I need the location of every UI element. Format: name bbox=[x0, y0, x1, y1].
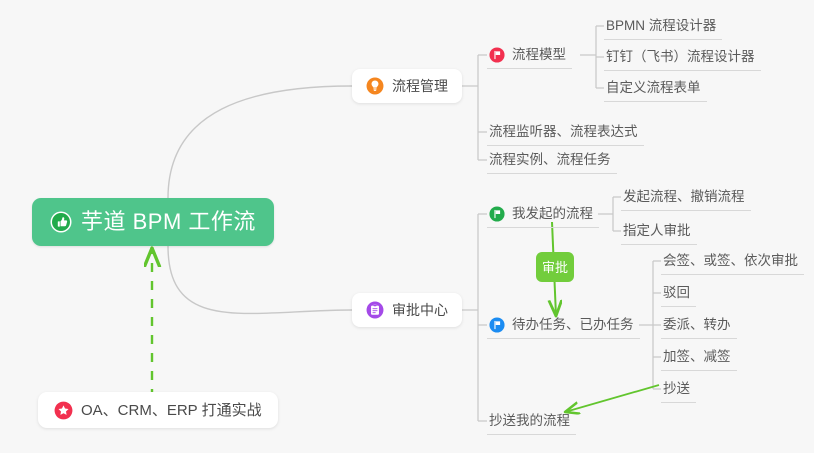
node-label-cc: 抄送 bbox=[663, 382, 690, 396]
branch-label-approval-center: 审批中心 bbox=[392, 303, 448, 317]
arrow-cc-to-cc-my-process bbox=[565, 385, 659, 412]
connector-root-to-process-management bbox=[168, 86, 352, 198]
thumbs-up-icon bbox=[50, 211, 72, 233]
flag-blue-icon bbox=[489, 317, 505, 333]
node-delegate-transfer[interactable]: 委派、转办 bbox=[661, 311, 737, 339]
node-label-my-initiated-process: 我发起的流程 bbox=[512, 207, 593, 221]
node-process-model[interactable]: 流程模型 bbox=[487, 41, 572, 69]
node-bpmn-designer[interactable]: BPMN 流程设计器 bbox=[604, 12, 722, 40]
mindmap-canvas: 芋道 BPM 工作流 OA、CRM、ERP 打通实战 流程管理 bbox=[0, 0, 814, 453]
branch-label-process-management: 流程管理 bbox=[392, 79, 448, 93]
node-assignee-approval[interactable]: 指定人审批 bbox=[621, 217, 697, 245]
node-dingtalk-feishu-designer[interactable]: 钉钉（飞书）流程设计器 bbox=[604, 43, 761, 71]
lightbulb-icon bbox=[366, 77, 384, 95]
node-cc-to-me-process[interactable]: 抄送我的流程 bbox=[487, 407, 576, 435]
connector-root-to-approval-center bbox=[168, 246, 352, 313]
node-label-add-remove-sign: 加签、减签 bbox=[663, 350, 731, 364]
root-node[interactable]: 芋道 BPM 工作流 bbox=[32, 198, 274, 246]
star-icon bbox=[54, 401, 73, 420]
node-add-remove-sign[interactable]: 加签、减签 bbox=[661, 343, 737, 371]
node-label-process-listener-expression: 流程监听器、流程表达式 bbox=[489, 125, 638, 139]
node-label-dingtalk-feishu-designer: 钉钉（飞书）流程设计器 bbox=[606, 50, 755, 64]
node-reject[interactable]: 驳回 bbox=[661, 279, 696, 307]
node-label-todo-done-task: 待办任务、已办任务 bbox=[512, 318, 634, 332]
footer-note-label: OA、CRM、ERP 打通实战 bbox=[81, 403, 262, 418]
approval-tag[interactable]: 审批 bbox=[536, 252, 574, 282]
node-custom-process-form[interactable]: 自定义流程表单 bbox=[604, 74, 707, 102]
node-label-custom-process-form: 自定义流程表单 bbox=[606, 81, 701, 95]
node-label-start-cancel-process: 发起流程、撤销流程 bbox=[623, 190, 745, 204]
footer-note-node[interactable]: OA、CRM、ERP 打通实战 bbox=[38, 392, 278, 428]
node-countersign-orsign-sequential[interactable]: 会签、或签、依次审批 bbox=[661, 247, 804, 275]
node-cc[interactable]: 抄送 bbox=[661, 375, 696, 403]
node-process-listener-expression[interactable]: 流程监听器、流程表达式 bbox=[487, 118, 644, 146]
node-start-cancel-process[interactable]: 发起流程、撤销流程 bbox=[621, 183, 751, 211]
node-todo-done-task[interactable]: 待办任务、已办任务 bbox=[487, 311, 640, 339]
node-label-cc-to-me-process: 抄送我的流程 bbox=[489, 414, 570, 428]
clipboard-icon bbox=[366, 301, 384, 319]
flag-red-icon bbox=[489, 47, 505, 63]
node-my-initiated-process[interactable]: 我发起的流程 bbox=[487, 200, 599, 228]
node-label-bpmn-designer: BPMN 流程设计器 bbox=[606, 19, 716, 33]
node-process-instance-task[interactable]: 流程实例、流程任务 bbox=[487, 146, 617, 174]
root-label: 芋道 BPM 工作流 bbox=[81, 211, 256, 233]
approval-tag-label: 审批 bbox=[542, 261, 568, 274]
node-label-reject: 驳回 bbox=[663, 286, 690, 300]
flag-green-icon bbox=[489, 206, 505, 222]
branch-node-process-management[interactable]: 流程管理 bbox=[352, 69, 462, 103]
node-label-countersign-orsign-sequential: 会签、或签、依次审批 bbox=[663, 254, 798, 268]
branch-node-approval-center[interactable]: 审批中心 bbox=[352, 293, 462, 327]
node-label-process-model: 流程模型 bbox=[512, 48, 566, 62]
node-label-delegate-transfer: 委派、转办 bbox=[663, 318, 731, 332]
node-label-assignee-approval: 指定人审批 bbox=[623, 224, 691, 238]
node-label-process-instance-task: 流程实例、流程任务 bbox=[489, 153, 611, 167]
